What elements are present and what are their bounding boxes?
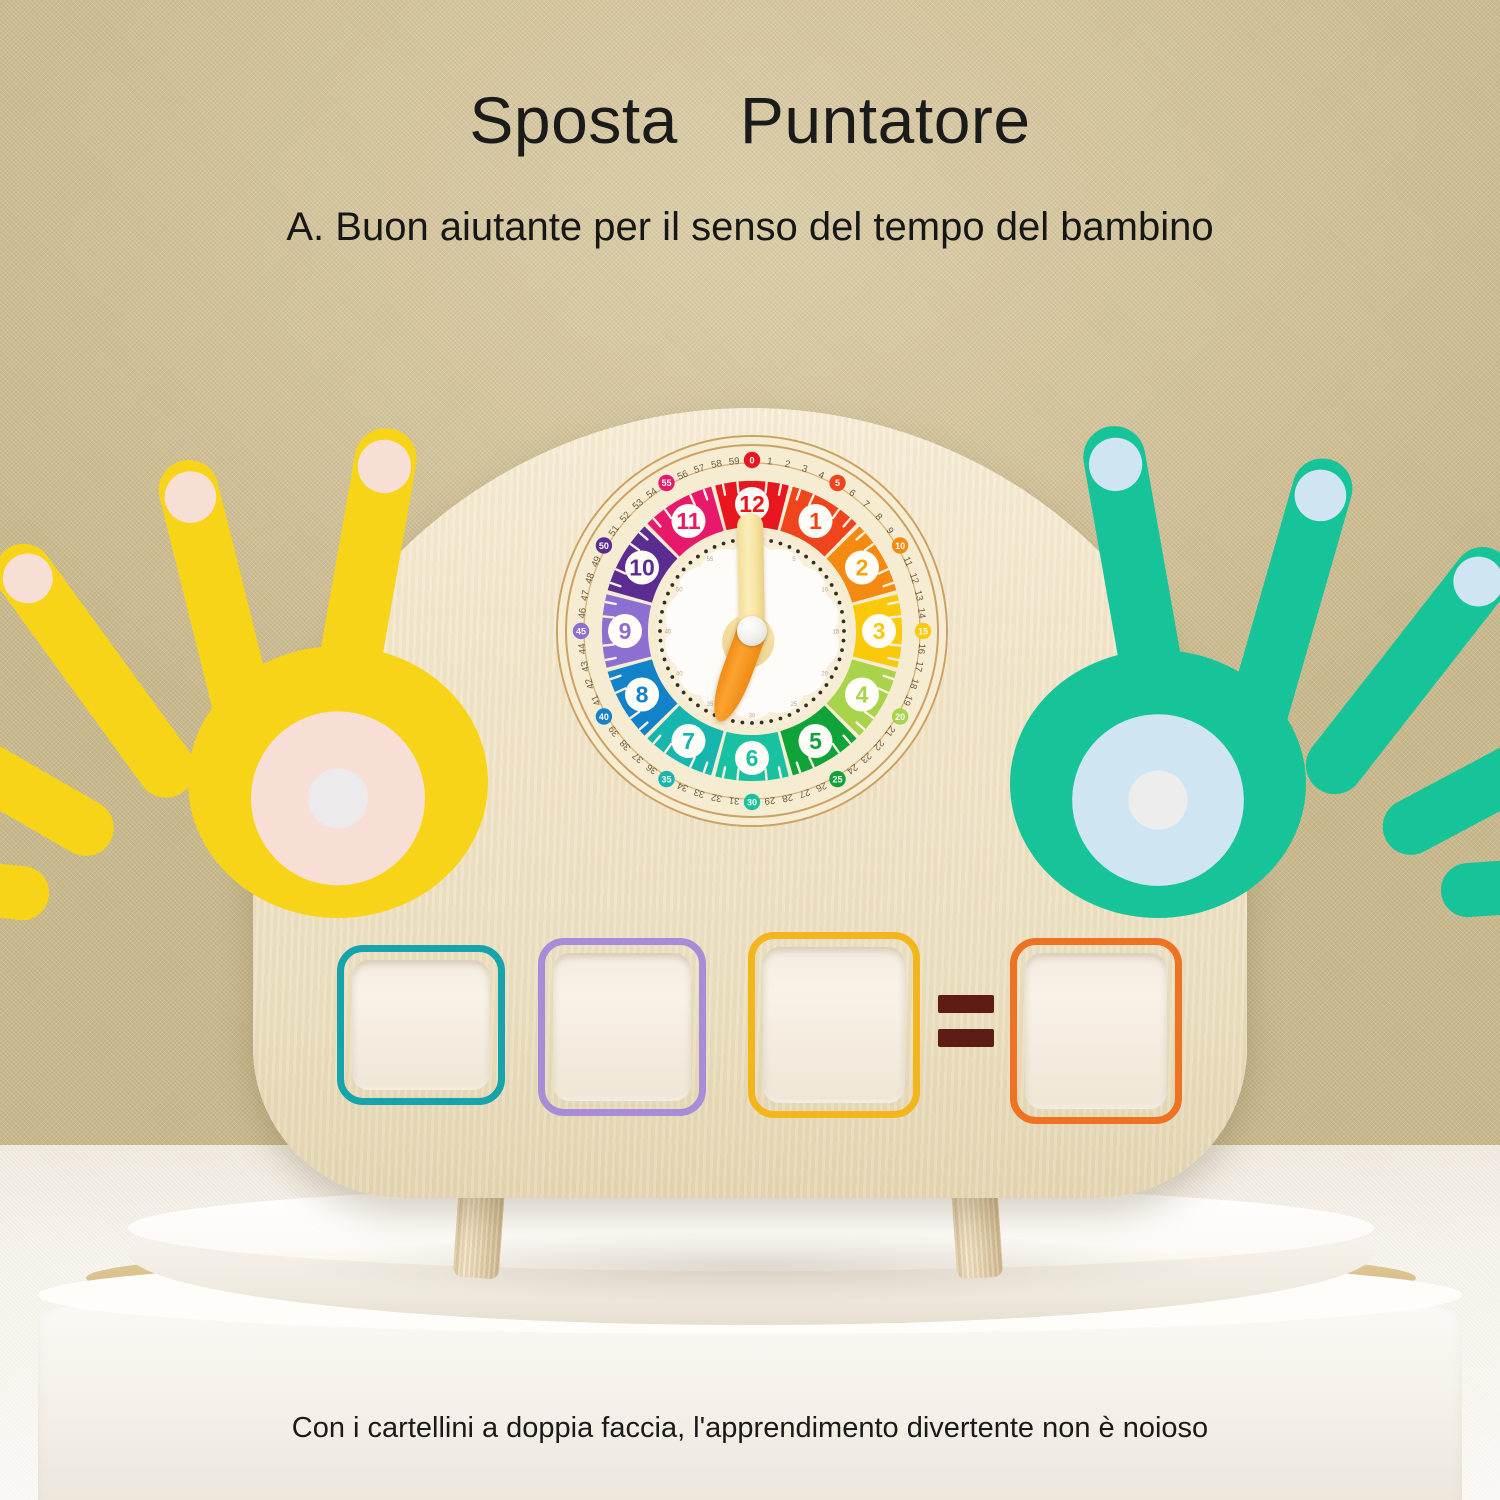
page-subtitle: A. Buon aiutante per il senso del tempo …	[0, 205, 1500, 250]
svg-text:50: 50	[599, 541, 609, 551]
title-part-two: Puntatore	[740, 83, 1031, 157]
equals-bar-top	[938, 995, 994, 1013]
felt-hand-left-yellow[interactable]	[0, 392, 598, 952]
svg-text:40: 40	[599, 712, 609, 722]
svg-text:10: 10	[629, 555, 655, 581]
svg-text:20: 20	[895, 712, 905, 722]
svg-text:7: 7	[682, 728, 695, 754]
svg-text:4: 4	[856, 682, 869, 708]
svg-text:9: 9	[619, 618, 632, 644]
svg-text:0: 0	[749, 455, 754, 465]
clock-assembly[interactable]: 5101520253035404550556012123456789101101…	[556, 435, 948, 827]
felt-hand-right-teal[interactable]	[962, 386, 1500, 946]
svg-text:59: 59	[728, 456, 740, 468]
svg-text:50: 50	[676, 588, 683, 594]
card-slot-3[interactable]	[748, 932, 920, 1118]
svg-text:35: 35	[661, 774, 671, 784]
svg-text:3: 3	[873, 618, 886, 644]
svg-text:55: 55	[707, 557, 714, 563]
svg-text:8: 8	[636, 682, 649, 708]
card-slot-4[interactable]	[1010, 938, 1182, 1124]
svg-text:40: 40	[676, 672, 683, 678]
svg-text:35: 35	[707, 702, 714, 708]
title-part-one: Sposta	[469, 83, 677, 157]
svg-text:5: 5	[835, 478, 840, 488]
svg-text:5: 5	[809, 728, 822, 754]
svg-text:29: 29	[764, 794, 776, 806]
equals-bar-bottom	[938, 1029, 994, 1047]
card-slot-2-recess	[553, 953, 691, 1101]
product-photo-stage: SpostaPuntatore A. Buon aiutante per il …	[0, 0, 1500, 1500]
equals-sign-icon	[938, 995, 994, 1053]
product-contact-shadow	[300, 1232, 1200, 1302]
svg-text:1: 1	[809, 508, 822, 534]
svg-text:30: 30	[747, 797, 757, 807]
svg-text:58: 58	[710, 458, 723, 471]
svg-text:14: 14	[915, 607, 927, 619]
svg-text:31: 31	[728, 794, 740, 806]
svg-text:2: 2	[856, 555, 869, 581]
svg-text:11: 11	[676, 508, 701, 534]
svg-text:25: 25	[832, 774, 842, 784]
svg-text:55: 55	[661, 478, 671, 488]
svg-text:1: 1	[767, 456, 773, 467]
svg-text:13: 13	[912, 589, 925, 602]
svg-text:30: 30	[749, 714, 756, 720]
clock-pivot	[737, 616, 767, 646]
svg-text:15: 15	[918, 626, 928, 636]
svg-text:32: 32	[710, 791, 723, 804]
page-title: SpostaPuntatore	[0, 82, 1500, 158]
card-slot-2[interactable]	[538, 938, 706, 1116]
svg-text:16: 16	[915, 643, 927, 655]
svg-text:6: 6	[746, 745, 759, 771]
svg-text:25: 25	[791, 702, 798, 708]
svg-text:10: 10	[895, 541, 905, 551]
svg-text:10: 10	[821, 588, 828, 594]
card-slot-3-recess	[763, 947, 905, 1103]
svg-text:17: 17	[912, 660, 925, 673]
svg-text:15: 15	[833, 630, 840, 636]
page-footnote: Con i cartellini a doppia faccia, l'appr…	[0, 1412, 1500, 1445]
svg-text:20: 20	[821, 672, 828, 678]
card-slot-1[interactable]	[337, 945, 505, 1105]
svg-text:28: 28	[781, 791, 794, 804]
card-slot-4-recess	[1025, 953, 1167, 1109]
card-slot-1-recess	[352, 960, 490, 1090]
svg-text:45: 45	[665, 630, 672, 636]
